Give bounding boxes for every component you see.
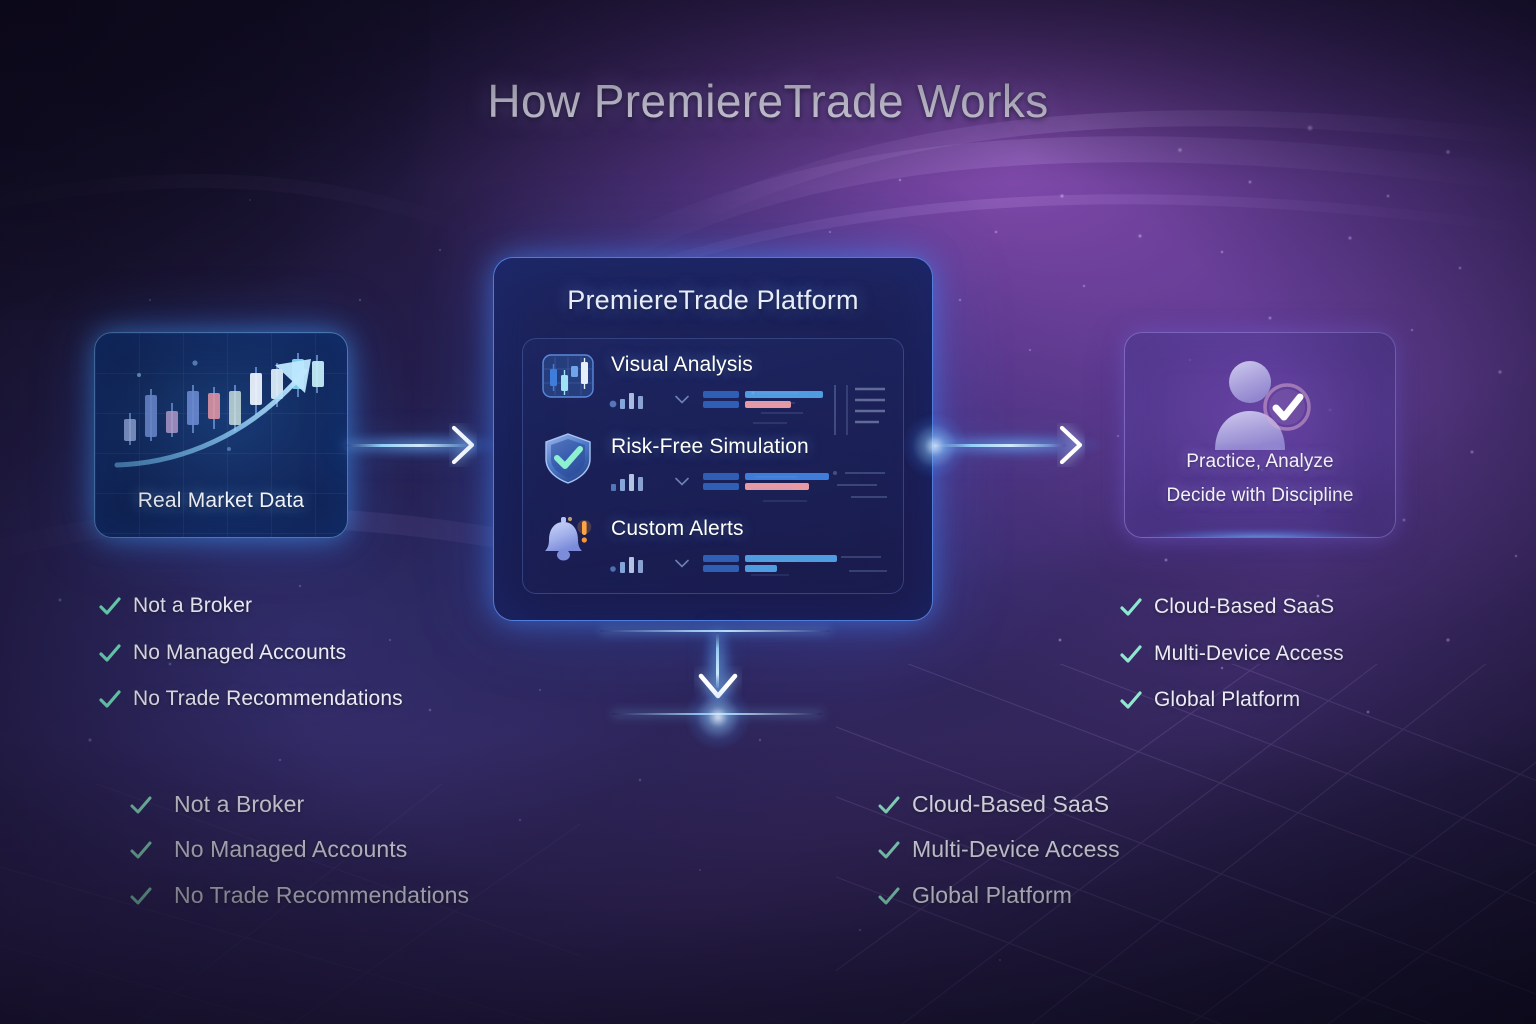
- card-caption-line1: Practice, Analyze: [1125, 451, 1395, 473]
- list-item-label: Global Platform: [912, 882, 1072, 909]
- list-item: Cloud-Based SaaS: [876, 791, 1109, 818]
- list-item: Global Platform: [1118, 687, 1300, 713]
- list-item: Multi-Device Access: [1118, 641, 1344, 667]
- list-item: No Managed Accounts: [97, 640, 346, 666]
- list-item: Cloud-Based SaaS: [1118, 594, 1334, 620]
- list-item-label: No Managed Accounts: [133, 641, 346, 665]
- feature-decoration-row-1: [609, 471, 895, 493]
- bell-alert-icon: [541, 513, 595, 567]
- list-item-label: Cloud-Based SaaS: [912, 791, 1109, 818]
- list-item-label: Not a Broker: [174, 791, 304, 818]
- list-item-label: Cloud-Based SaaS: [1154, 595, 1334, 619]
- feature-label-custom-alerts: Custom Alerts: [611, 517, 744, 541]
- check-icon: [1118, 687, 1144, 713]
- list-item-label: Multi-Device Access: [912, 836, 1120, 863]
- card-label-real-market-data: Real Market Data: [95, 489, 347, 513]
- chevron-down-icon: [675, 395, 689, 404]
- check-icon: [876, 792, 902, 818]
- list-item-label: No Managed Accounts: [174, 836, 407, 863]
- infographic-canvas: How PremiereTrade Works: [0, 0, 1536, 1024]
- check-icon: [97, 686, 123, 712]
- chevron-down-icon: [675, 559, 689, 568]
- feature-label-risk-free-simulation: Risk-Free Simulation: [611, 435, 809, 459]
- check-icon: [1118, 594, 1144, 620]
- feature-decoration-row-0: [609, 389, 895, 411]
- panel-title: PremiereTrade Platform: [494, 285, 932, 316]
- premieretrade-platform-panel[interactable]: PremiereTrade Platform: [493, 257, 933, 621]
- arrow-right-icon-right: [1057, 423, 1085, 467]
- check-icon: [128, 837, 154, 863]
- list-item-label: Not a Broker: [133, 594, 252, 618]
- mini-bar-chart-icon: [609, 391, 655, 409]
- check-icon: [876, 837, 902, 863]
- down-beam-flare: [685, 684, 751, 750]
- mini-bar-chart-icon: [609, 473, 655, 491]
- mini-bar-chart-icon: [609, 555, 655, 573]
- side-list-panel-icon: [827, 547, 889, 594]
- card-practice-analyze[interactable]: Practice, Analyze Decide with Discipline: [1124, 332, 1396, 538]
- card-real-market-data[interactable]: Real Market Data: [94, 332, 348, 538]
- list-item: No Trade Recommendations: [97, 686, 403, 712]
- check-icon: [128, 883, 154, 909]
- list-item-label: No Trade Recommendations: [174, 882, 469, 909]
- check-icon: [97, 593, 123, 619]
- list-item: Not a Broker: [128, 791, 304, 818]
- check-icon: [97, 640, 123, 666]
- card-bottom-glow: [1141, 529, 1379, 538]
- faint-data-lines: [751, 549, 821, 594]
- user-verified-check-icon: [1203, 355, 1323, 455]
- list-item-label: Global Platform: [1154, 688, 1300, 712]
- list-item-label: No Trade Recommendations: [133, 687, 403, 711]
- list-item: Global Platform: [876, 882, 1072, 909]
- shield-check-icon: [541, 431, 595, 485]
- candlestick-chart-rising-arrow-icon: [109, 341, 335, 491]
- list-item-label: Multi-Device Access: [1154, 642, 1344, 666]
- arrow-right-icon-left: [449, 423, 477, 467]
- chart-panel-icon: [541, 349, 595, 403]
- card-caption-line2: Decide with Discipline: [1125, 485, 1395, 507]
- check-icon: [1118, 641, 1144, 667]
- feature-decoration-row-2: [609, 553, 895, 575]
- connector-beam-right: [934, 444, 1066, 447]
- check-icon: [128, 792, 154, 818]
- list-item: Multi-Device Access: [876, 836, 1120, 863]
- list-item: Not a Broker: [97, 593, 252, 619]
- corner-shadow: [0, 0, 430, 320]
- check-icon: [876, 883, 902, 909]
- list-item: No Trade Recommendations: [128, 882, 469, 909]
- page-title: How PremiereTrade Works: [0, 74, 1536, 128]
- feature-row-visual-analysis[interactable]: Visual Analysis: [523, 345, 903, 427]
- feature-label-visual-analysis: Visual Analysis: [611, 353, 753, 377]
- feature-list: Visual Analysis: [522, 338, 904, 594]
- feature-row-risk-free-simulation[interactable]: Risk-Free Simulation: [523, 427, 903, 509]
- chevron-down-icon: [675, 477, 689, 486]
- list-item: No Managed Accounts: [128, 836, 407, 863]
- feature-row-custom-alerts[interactable]: Custom Alerts: [523, 509, 903, 591]
